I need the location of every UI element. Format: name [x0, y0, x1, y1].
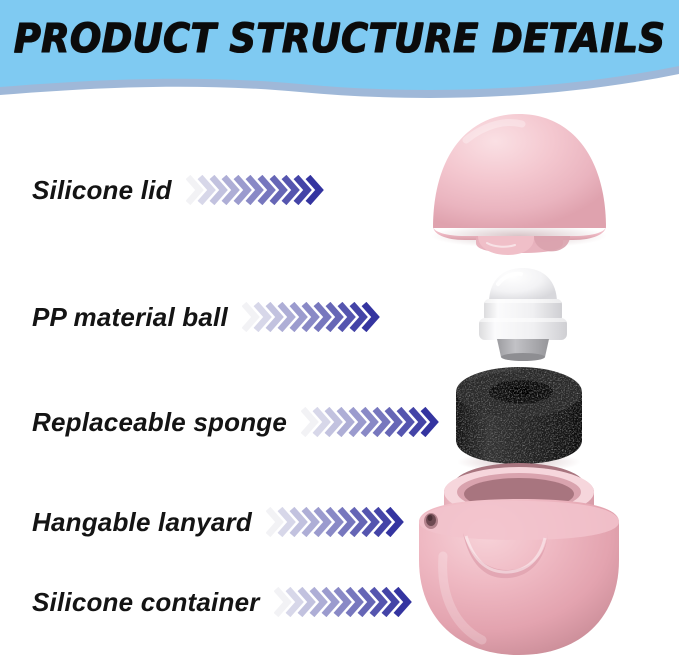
label-silicone-container: Silicone container: [32, 587, 260, 618]
label-replaceable-sponge: Replaceable sponge: [32, 407, 287, 438]
row-silicone-lid: Silicone lid: [32, 168, 328, 212]
header-banner: PRODUCT STRUCTURE DETAILS: [0, 0, 679, 100]
label-hangable-lanyard: Hangable lanyard: [32, 507, 252, 538]
chevron-arrow-icon: [301, 407, 443, 437]
chevron-arrow-icon: [274, 587, 416, 617]
chevron-arrow-icon: [266, 507, 408, 537]
chevron-arrow-icon: [186, 175, 328, 205]
part-pp-material-ball: [479, 268, 567, 361]
part-silicone-container: [419, 463, 619, 655]
chevron-arrow-icon: [242, 302, 384, 332]
part-replaceable-sponge: [456, 367, 582, 472]
label-silicone-lid: Silicone lid: [32, 175, 172, 206]
row-silicone-container: Silicone container: [32, 580, 416, 624]
page-title: PRODUCT STRUCTURE DETAILS: [27, 0, 652, 78]
row-replaceable-sponge: Replaceable sponge: [32, 400, 443, 444]
lanyard-hole: [424, 513, 438, 529]
row-pp-material-ball: PP material ball: [32, 295, 384, 339]
part-silicone-lid: [431, 114, 607, 255]
row-hangable-lanyard: Hangable lanyard: [32, 500, 408, 544]
label-pp-material-ball: PP material ball: [32, 302, 228, 333]
